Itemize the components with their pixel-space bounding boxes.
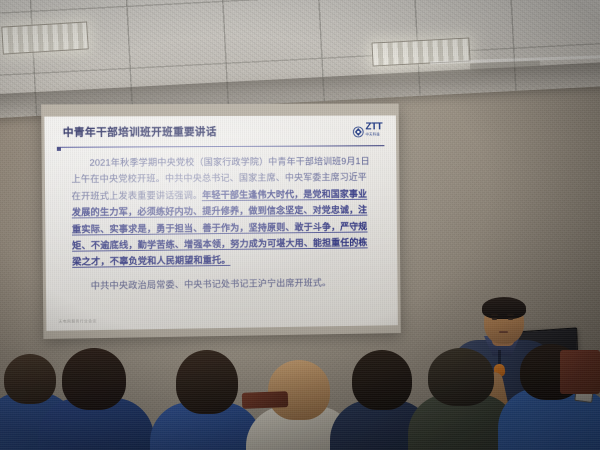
photo-vignette (0, 0, 600, 450)
conference-room-photo: 中青年干部培训班开班重要讲话 ZTT 中天科技 (0, 0, 600, 450)
